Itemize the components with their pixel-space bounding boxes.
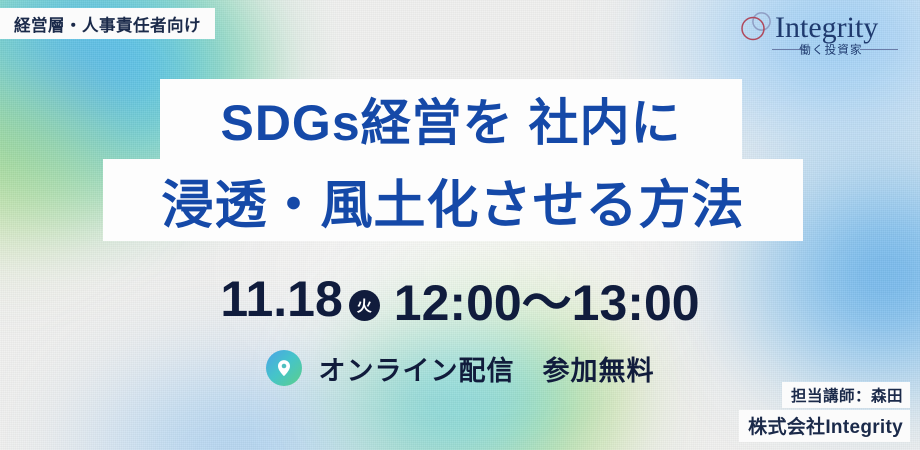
title-line-1-text: SDGs経営を 社内に	[220, 83, 681, 155]
presenter-block: 担当講師：森田 株式会社Integrity	[739, 382, 910, 442]
title-line-2: 浸透・風土化させる方法	[103, 159, 803, 241]
location-pin-icon	[266, 350, 302, 386]
event-weekday-badge: 火	[349, 290, 380, 321]
integrity-wordmark: Integrity	[775, 11, 878, 44]
event-date: 11.18	[220, 270, 342, 328]
presenter-name: 担当講師：森田	[782, 382, 910, 408]
title-line-2-text: 浸透・風土化させる方法	[161, 163, 744, 238]
title-line-1: SDGs経営を 社内に	[160, 79, 742, 159]
event-delivery-label: オンライン配信 参加無料	[319, 349, 655, 388]
integrity-logo: Integrity 働く投資家	[732, 10, 902, 58]
integrity-logo-svg: Integrity 働く投資家	[732, 10, 902, 58]
audience-tag-label: 経営層・人事責任者向け	[14, 12, 201, 36]
two-overlapping-circles-icon	[742, 13, 770, 40]
webinar-banner: 経営層・人事責任者向け Integrity 働く投資家 SDGs経営を 社内に …	[0, 0, 920, 450]
integrity-tagline: 働く投資家	[799, 43, 863, 57]
event-datetime-row: 11.18 火 12:00〜13:00	[0, 268, 920, 330]
background-blob-green-topleft	[0, 30, 160, 280]
presenter-company: 株式会社Integrity	[739, 410, 910, 442]
event-time: 12:00〜13:00	[394, 263, 700, 335]
audience-tag: 経営層・人事責任者向け	[0, 8, 215, 39]
